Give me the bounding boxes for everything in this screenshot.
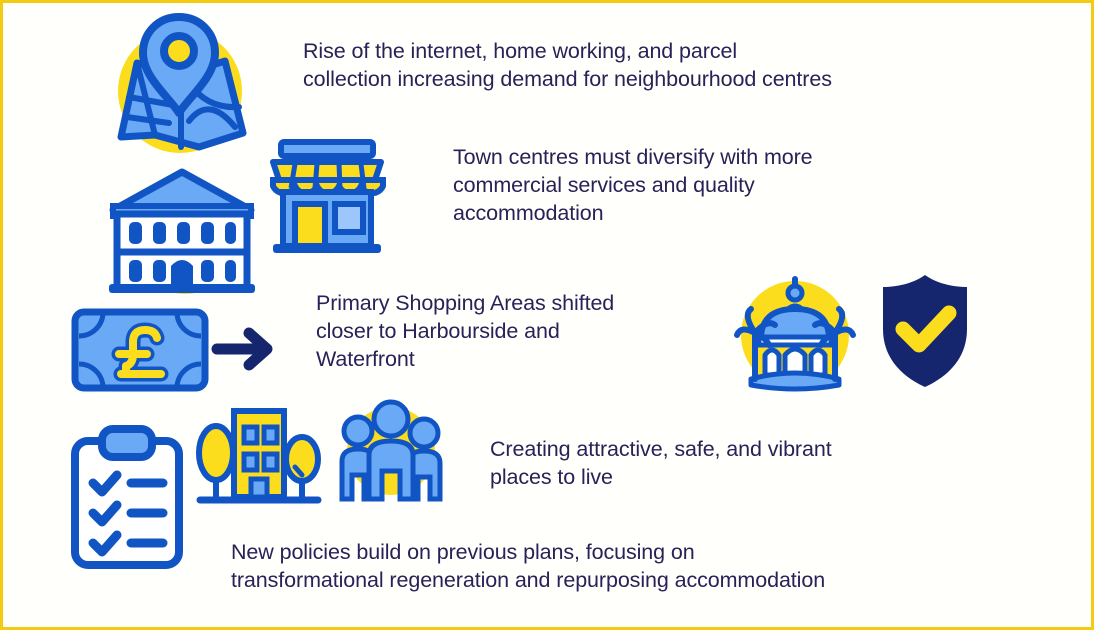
map-pin-icon <box>103 11 263 171</box>
statement-town-centre-diversify: Town centres must diversify with more co… <box>453 143 973 227</box>
people-group-icon <box>336 399 446 505</box>
infographic-canvas: Rise of the internet, home working, and … <box>0 0 1094 630</box>
pound-banknote-icon <box>71 308 209 392</box>
civic-building-icon <box>101 166 263 296</box>
shop-front-icon <box>265 136 391 258</box>
arrow-right-icon <box>213 325 283 373</box>
clipboard-checklist-icon <box>69 425 185 571</box>
statement-attractive-places: Creating attractive, safe, and vibrant p… <box>490 435 940 491</box>
statement-internet-demand: Rise of the internet, home working, and … <box>303 37 1003 93</box>
domed-pavilion-icon <box>731 275 859 395</box>
statement-new-policies: New policies build on previous plans, fo… <box>231 538 1021 594</box>
statement-primary-shopping-areas: Primary Shopping Areas shifted closer to… <box>316 289 716 373</box>
shield-check-icon <box>875 271 975 391</box>
apartment-block-icon <box>196 397 322 507</box>
